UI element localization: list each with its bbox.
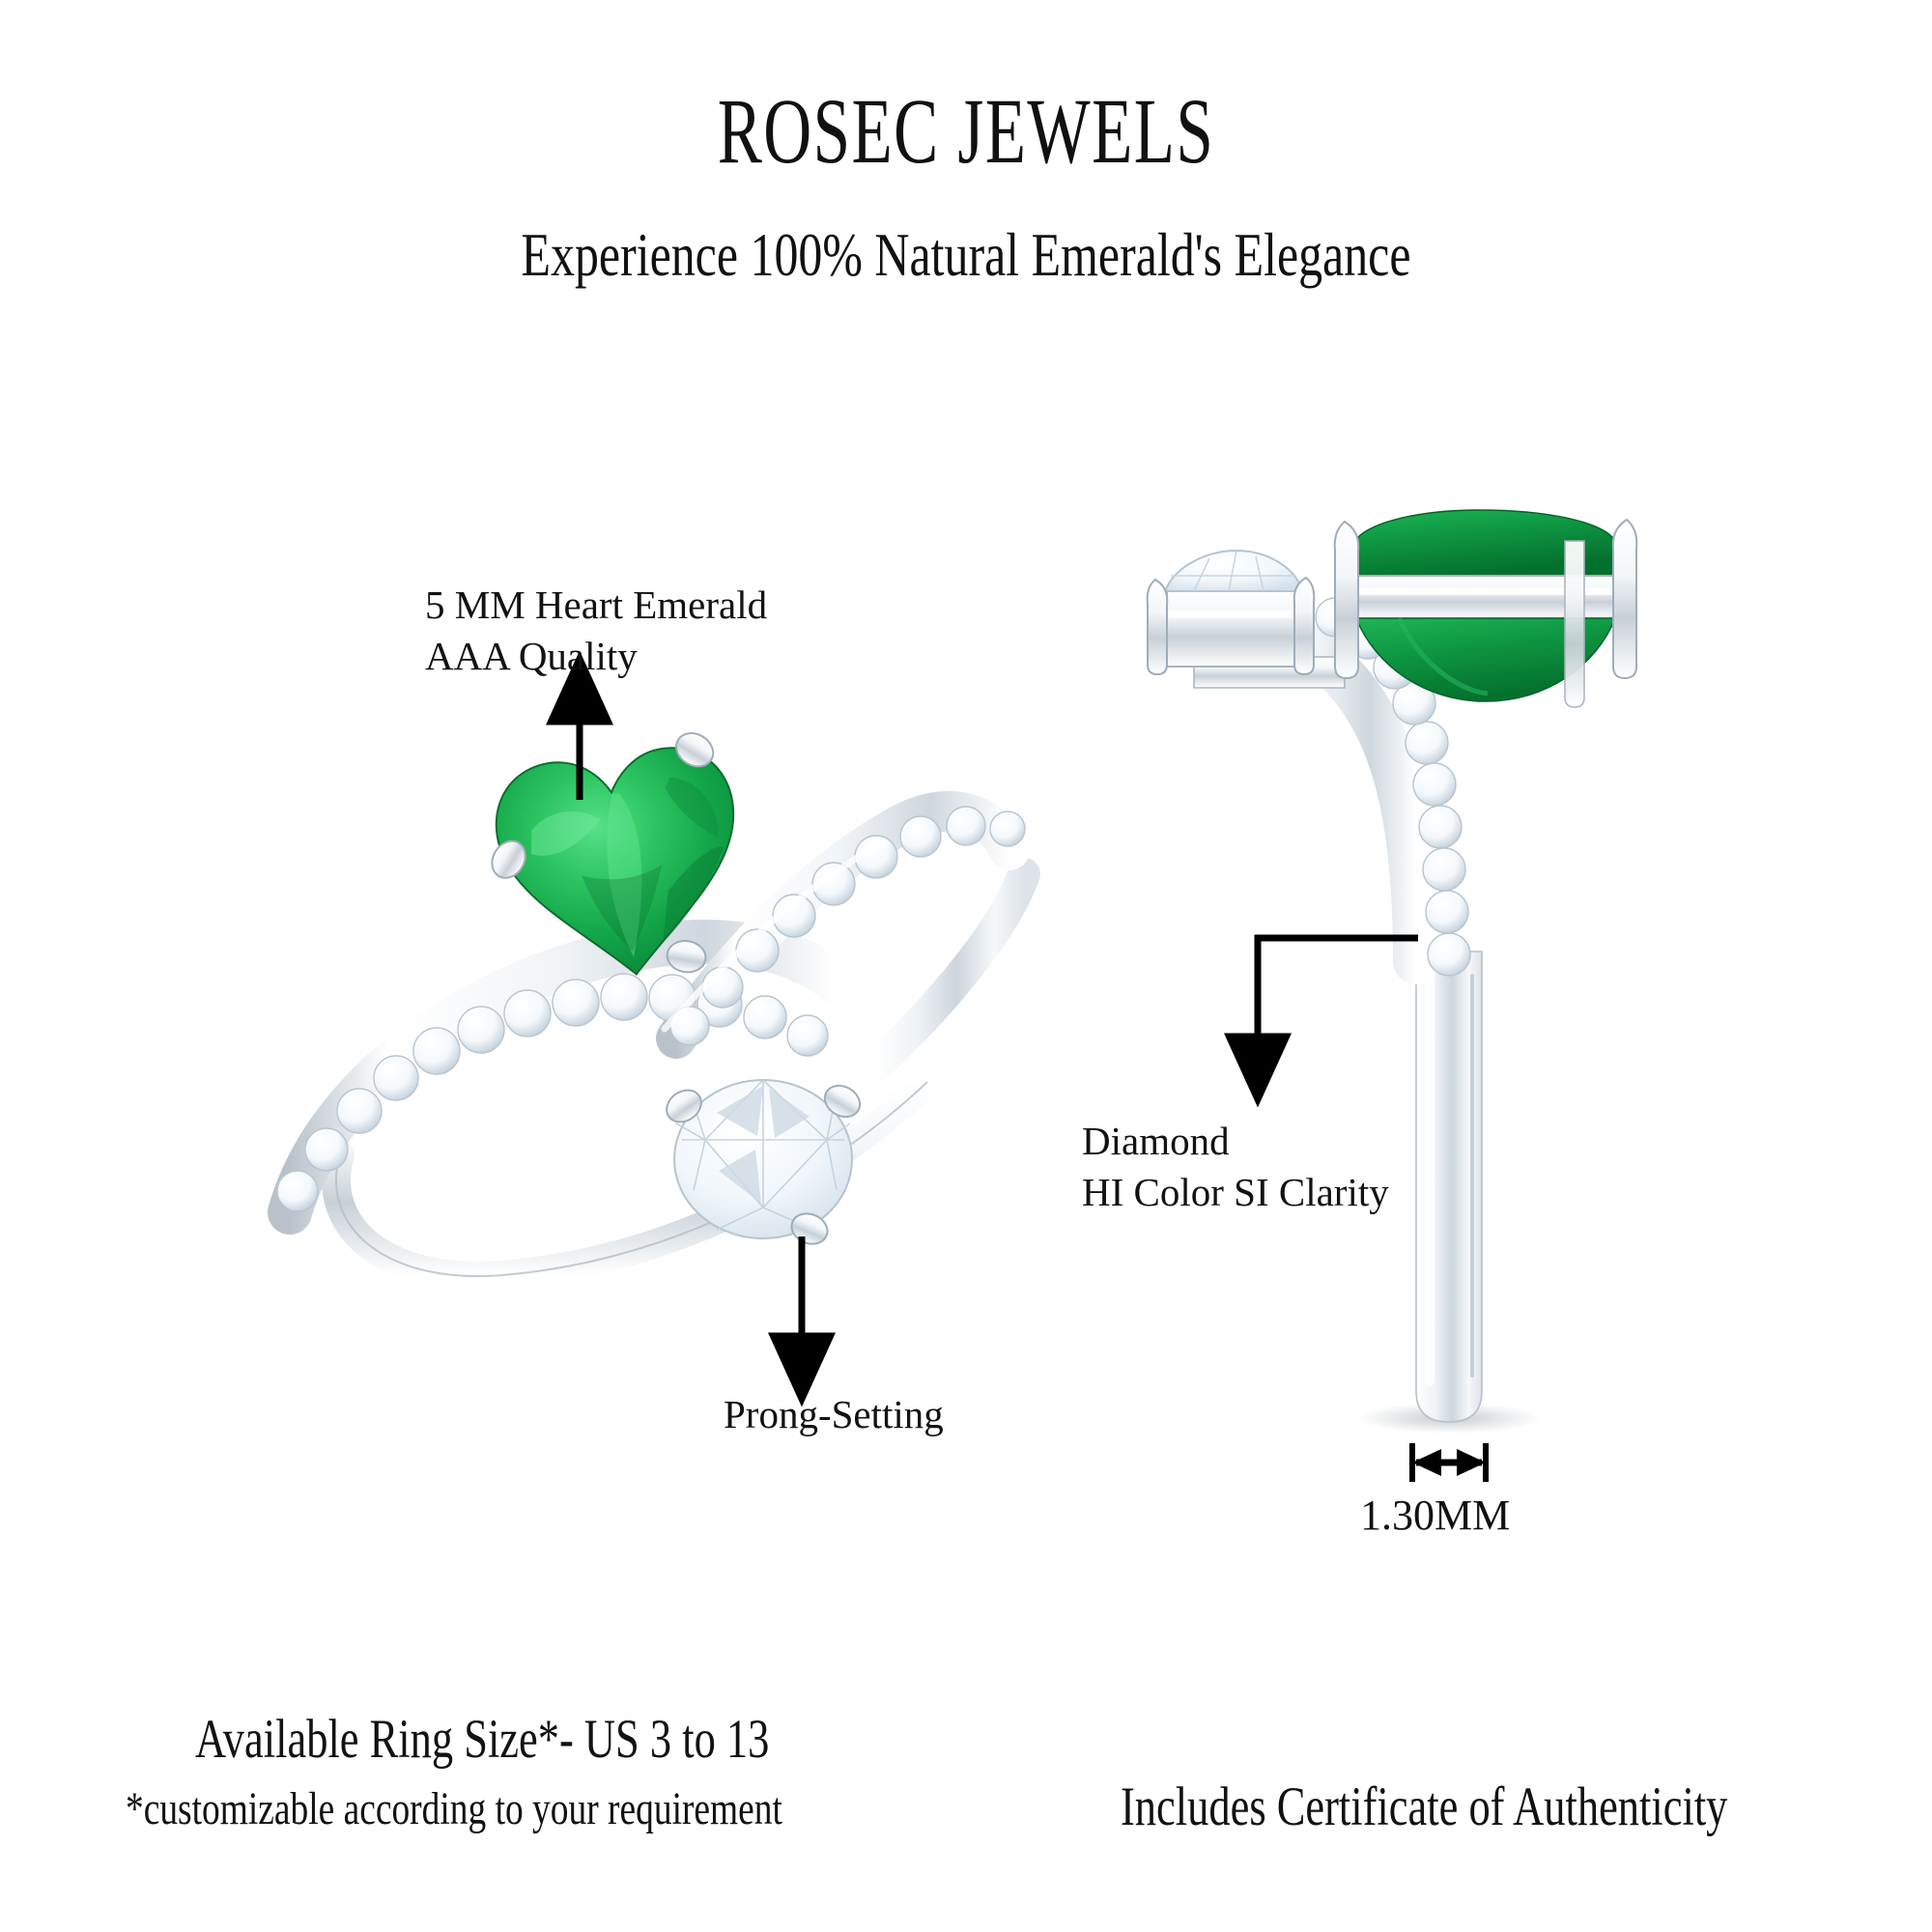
page-title: ROSEC JEWELS bbox=[270, 85, 1662, 178]
product-illustration bbox=[0, 0, 1932, 1932]
annotation-diamond-line1: Diamond bbox=[1082, 1116, 1389, 1167]
band-width-dimension bbox=[1412, 1443, 1486, 1482]
annotation-prong-line1: Prong-Setting bbox=[724, 1389, 944, 1440]
pave-row-right bbox=[670, 807, 1025, 1045]
round-diamond-top-view bbox=[661, 1080, 866, 1250]
annotation-emerald-line2: AAA Quality bbox=[425, 631, 767, 682]
diamond-setting-side-view bbox=[1148, 551, 1315, 674]
pave-column-side-view bbox=[1316, 598, 1470, 976]
annotation-emerald: 5 MM Heart Emerald AAA Quality bbox=[425, 580, 767, 683]
footer-certificate: Includes Certificate of Authenticity bbox=[1121, 1776, 1727, 1838]
footer-ring-size: Available Ring Size*- US 3 to 13 bbox=[195, 1708, 769, 1771]
ring-side-view bbox=[1148, 510, 1637, 1434]
annotation-band-width: 1.30MM bbox=[1360, 1488, 1510, 1543]
heart-emerald-top-view bbox=[469, 722, 758, 1007]
infographic-page: ROSEC JEWELS Experience 100% Natural Eme… bbox=[0, 0, 1932, 1932]
footer-customizable-note: *customizable according to your requirem… bbox=[126, 1782, 782, 1835]
diamond-arrow bbox=[1258, 938, 1418, 1070]
pave-row-left bbox=[277, 974, 828, 1211]
page-subtitle: Experience 100% Natural Emerald's Elegan… bbox=[213, 224, 1719, 286]
emerald-setting-side-view bbox=[1335, 510, 1637, 707]
annotation-arrows bbox=[580, 688, 1418, 1370]
annotation-diamond-line2: HI Color SI Clarity bbox=[1082, 1167, 1389, 1218]
ring-top-view bbox=[277, 722, 1025, 1276]
annotation-diamond: Diamond HI Color SI Clarity bbox=[1082, 1116, 1389, 1219]
annotation-emerald-line1: 5 MM Heart Emerald bbox=[425, 580, 767, 631]
annotation-prong-setting: Prong-Setting bbox=[724, 1389, 944, 1440]
